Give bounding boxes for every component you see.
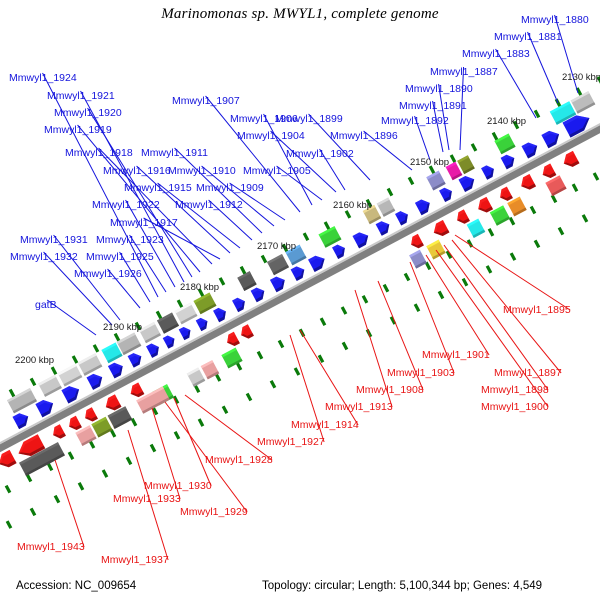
gene-label-forward[interactable]: Mmwyl1_1892: [381, 116, 449, 127]
leader-line: [185, 395, 272, 460]
gene-label-forward[interactable]: Mmwyl1_1881: [494, 32, 562, 43]
gene-label-forward[interactable]: Mmwyl1_1932: [10, 252, 78, 263]
gene-label-forward[interactable]: Mmwyl1_1902: [286, 149, 354, 160]
gene-label-forward[interactable]: Mmwyl1_1920: [54, 108, 122, 119]
gene-label-forward[interactable]: Mmwyl1_1916: [103, 166, 171, 177]
gene-label-forward[interactable]: Mmwyl1_1923: [96, 235, 164, 246]
gene-label-forward[interactable]: Mmwyl1_1922: [92, 200, 160, 211]
coordinate-tick-label: 2140 kbp: [487, 116, 526, 127]
gene-label-forward[interactable]: Mmwyl1_1910: [168, 166, 236, 177]
coordinate-tick-label: 2200 kbp: [15, 355, 54, 366]
gene-label-forward[interactable]: Mmwyl1_1924: [9, 73, 77, 84]
gene-label-forward[interactable]: Mmwyl1_1880: [521, 15, 589, 26]
gene-label-forward[interactable]: Mmwyl1_1925: [86, 252, 154, 263]
gene-label-reverse[interactable]: Mmwyl1_1929: [180, 507, 248, 518]
gene-label-forward[interactable]: Mmwyl1_1907: [172, 96, 240, 107]
gene-label-reverse[interactable]: Mmwyl1_1901: [422, 350, 490, 361]
gene-label-reverse[interactable]: Mmwyl1_1914: [291, 420, 359, 431]
gene-label-forward[interactable]: Mmwyl1_1918: [65, 148, 133, 159]
gene-label-reverse[interactable]: Mmwyl1_1900: [481, 402, 549, 413]
gene-label-forward[interactable]: Mmwyl1_1926: [74, 269, 142, 280]
genome-map-viewer: Marinomonas sp. MWYL1, complete genome M…: [0, 0, 600, 600]
coordinate-tick-label: 2160 kbp: [333, 200, 372, 211]
gene-label-forward[interactable]: gatB: [35, 300, 57, 311]
gene-label-reverse[interactable]: Mmwyl1_1898: [481, 385, 549, 396]
gene-label-reverse[interactable]: Mmwyl1_1913: [325, 402, 393, 413]
coordinate-tick-label: 2150 kbp: [410, 157, 449, 168]
gene-label-forward[interactable]: Mmwyl1_1891: [399, 101, 467, 112]
leader-line: [455, 235, 570, 310]
gene-label-reverse[interactable]: Mmwyl1_1943: [17, 542, 85, 553]
gene-label-forward[interactable]: Mmwyl1_1912: [175, 200, 243, 211]
gene-label-reverse[interactable]: Mmwyl1_1903: [387, 368, 455, 379]
gene-label-forward[interactable]: Mmwyl1_1909: [196, 183, 264, 194]
gene-label-forward[interactable]: Mmwyl1_1883: [462, 49, 530, 60]
gene-label-forward[interactable]: Mmwyl1_1904: [237, 131, 305, 142]
leader-line: [55, 460, 84, 547]
gene-label-reverse[interactable]: Mmwyl1_1897: [494, 368, 562, 379]
gene-label-reverse[interactable]: Mmwyl1_1895: [503, 305, 571, 316]
coordinate-tick-label: 2170 kbp: [257, 241, 296, 252]
coordinate-tick-label: 2190 kbp: [103, 322, 142, 333]
gene-label-reverse[interactable]: Mmwyl1_1930: [144, 481, 212, 492]
gene-label-reverse[interactable]: Mmwyl1_1928: [205, 455, 273, 466]
gene-label-forward[interactable]: Mmwyl1_1915: [124, 183, 192, 194]
gene-label-reverse[interactable]: Mmwyl1_1933: [113, 494, 181, 505]
gene-label-forward[interactable]: Mmwyl1_1887: [430, 67, 498, 78]
coordinate-tick-label: 2130 kbp: [562, 72, 600, 83]
gene-label-forward[interactable]: Mmwyl1_1921: [47, 91, 115, 102]
gene-label-forward[interactable]: Mmwyl1_1906: [230, 114, 298, 125]
gene-label-forward[interactable]: Mmwyl1_1931: [20, 235, 88, 246]
gene-label-forward[interactable]: Mmwyl1_1917: [110, 218, 178, 229]
coordinate-tick-label: 2180 kbp: [180, 282, 219, 293]
leader-line: [174, 398, 211, 486]
leader-line: [426, 255, 489, 355]
gene-label-forward[interactable]: Mmwyl1_1890: [405, 84, 473, 95]
gene-label-forward[interactable]: Mmwyl1_1919: [44, 125, 112, 136]
gene-label-reverse[interactable]: Mmwyl1_1908: [356, 385, 424, 396]
gene-label-reverse[interactable]: Mmwyl1_1927: [257, 437, 325, 448]
gene-label-forward[interactable]: Mmwyl1_1896: [330, 131, 398, 142]
gene-label-reverse[interactable]: Mmwyl1_1937: [101, 555, 169, 566]
gene-label-forward[interactable]: Mmwyl1_1911: [141, 148, 208, 159]
gene-label-forward[interactable]: Mmwyl1_1905: [243, 166, 311, 177]
